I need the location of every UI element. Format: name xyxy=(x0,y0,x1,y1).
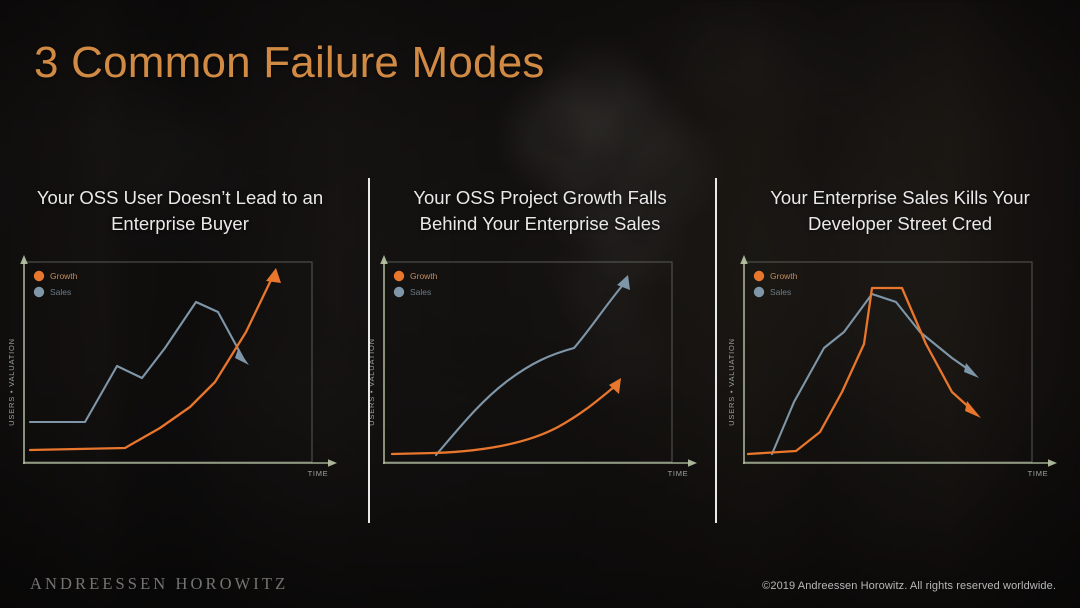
panel-heading-line2: Developer Street Cred xyxy=(808,213,992,234)
panel-heading-line1: Your OSS User Doesn’t Lead to an xyxy=(37,187,323,208)
y-axis-arrow-icon xyxy=(740,255,748,264)
panel-heading: Your OSS User Doesn’t Lead to an Enterpr… xyxy=(18,185,342,237)
chart-oss-user: USERS • VALUATION TIME Growth Sales xyxy=(0,252,360,492)
chart-svg: USERS • VALUATION TIME Growth Sales xyxy=(720,252,1080,492)
panel-heading-line2: Enterprise Buyer xyxy=(111,213,249,234)
series-sales-arrow-icon xyxy=(235,349,249,365)
y-axis-arrow-icon xyxy=(380,255,388,264)
x-axis-label: TIME xyxy=(668,469,689,478)
series-growth-arrow-icon xyxy=(609,378,621,394)
failure-mode-panels: Your OSS User Doesn’t Lead to an Enterpr… xyxy=(0,178,1080,526)
chart-oss-growth: USERS • VALUATION TIME Growth Sales xyxy=(360,252,720,492)
panel-heading-line2: Behind Your Enterprise Sales xyxy=(420,213,661,234)
y-axis-label: USERS • VALUATION xyxy=(7,338,16,426)
x-axis-arrow-icon xyxy=(1048,459,1057,467)
legend-sales-label: Sales xyxy=(50,287,71,297)
panel-heading-line1: Your OSS Project Growth Falls xyxy=(413,187,666,208)
series-growth-line xyxy=(30,280,271,450)
y-axis-arrow-icon xyxy=(20,255,28,264)
x-axis-arrow-icon xyxy=(328,459,337,467)
series-sales-line xyxy=(30,302,243,422)
chart-enterprise-sales: USERS • VALUATION TIME Growth Sales xyxy=(720,252,1080,492)
panel-oss-user: Your OSS User Doesn’t Lead to an Enterpr… xyxy=(0,178,360,526)
legend-sales-dot-icon xyxy=(754,287,764,297)
panel-heading: Your OSS Project Growth Falls Behind You… xyxy=(378,185,702,237)
panel-divider-1 xyxy=(368,178,370,523)
chart-svg: USERS • VALUATION TIME Growth Sales xyxy=(0,252,360,492)
x-axis-label: TIME xyxy=(1028,469,1049,478)
series-sales-arrow-icon xyxy=(617,275,630,290)
panel-enterprise-sales: Your Enterprise Sales Kills Your Develop… xyxy=(720,178,1080,526)
y-axis-label: USERS • VALUATION xyxy=(727,338,736,426)
panel-heading-line1: Your Enterprise Sales Kills Your xyxy=(770,187,1030,208)
brand-wordmark: ANDREESSEN HOROWITZ xyxy=(30,574,288,594)
series-sales-arrow-icon xyxy=(964,363,979,378)
legend-sales-label: Sales xyxy=(410,287,431,297)
presentation-slide: 3 Common Failure Modes Your OSS User Doe… xyxy=(0,0,1080,608)
series-growth-arrow-icon xyxy=(266,268,281,283)
legend-sales-label: Sales xyxy=(770,287,791,297)
legend-growth-label: Growth xyxy=(770,271,798,281)
legend-sales-dot-icon xyxy=(394,287,404,297)
legend-growth-dot-icon xyxy=(754,271,764,281)
panel-heading: Your Enterprise Sales Kills Your Develop… xyxy=(738,185,1062,237)
panel-oss-growth: Your OSS Project Growth Falls Behind You… xyxy=(360,178,720,526)
series-growth-arrow-icon xyxy=(965,401,981,418)
x-axis-arrow-icon xyxy=(688,459,697,467)
legend-growth-dot-icon xyxy=(394,271,404,281)
legend-growth-label: Growth xyxy=(50,271,78,281)
legend-sales-dot-icon xyxy=(34,287,44,297)
copyright-notice: ©2019 Andreessen Horowitz. All rights re… xyxy=(762,580,1056,592)
panel-divider-2 xyxy=(715,178,717,523)
x-axis-label: TIME xyxy=(308,469,329,478)
page-title: 3 Common Failure Modes xyxy=(34,38,545,88)
series-growth-line xyxy=(392,387,614,454)
legend-growth-label: Growth xyxy=(410,271,438,281)
series-sales-line xyxy=(436,286,622,455)
chart-svg: USERS • VALUATION TIME Growth Sales xyxy=(360,252,720,492)
legend-growth-dot-icon xyxy=(34,271,44,281)
